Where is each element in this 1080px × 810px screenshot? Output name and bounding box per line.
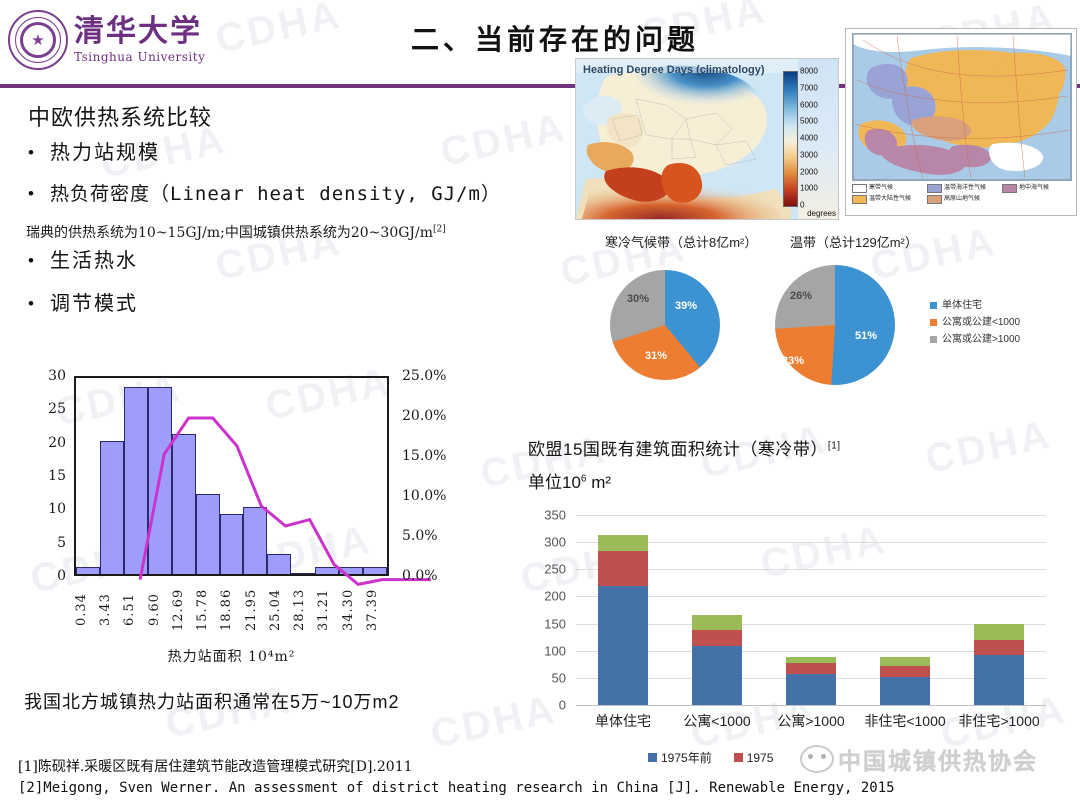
sbc-legend-item: 1975 — [734, 751, 774, 765]
legend-label: 温带大陆性气候 — [869, 194, 911, 205]
histogram-x-tick: 12.69 — [171, 582, 195, 638]
pie-title-temperate: 温带（总计129亿m²） — [790, 232, 918, 251]
legend-swatch — [648, 753, 657, 762]
sbc-stack — [880, 657, 931, 705]
bullet-label: 热负荷密度（Linear heat density, GJ/m） — [50, 183, 501, 206]
histogram-x-tick: 9.60 — [147, 582, 171, 638]
sbc-segment — [880, 666, 931, 676]
histogram-x-tick: 37.39 — [365, 582, 389, 638]
bullet-dot-icon: • — [28, 142, 50, 164]
map-legend-row: 寒带气候温带海洋性气候地中海气候 — [852, 183, 1072, 194]
page-title: 二、当前存在的问题 — [390, 18, 720, 58]
pie-slice-label: 39% — [675, 300, 697, 312]
pie-chart-temperate — [775, 265, 895, 385]
colorbar-tick: 5000 — [800, 117, 818, 126]
colorbar-tick: 2000 — [800, 167, 818, 176]
sbc-y-tick: 200 — [544, 589, 566, 604]
sbc-y-tick: 50 — [552, 670, 566, 685]
histogram-x-axis-title-text: 热力站面积 10⁴m² — [168, 649, 296, 665]
histogram-bar — [100, 441, 124, 574]
histogram-y-tick: 15 — [48, 468, 66, 484]
histogram-x-tick: 28.13 — [292, 582, 316, 638]
bullet-dot-icon: • — [28, 293, 50, 315]
map-legend: 寒带气候温带海洋性气候地中海气候温带大陆性气候高原山地气候 — [852, 183, 1072, 205]
sbc-segment — [598, 586, 649, 705]
histogram-y-tick: 10 — [48, 501, 66, 517]
right-caption-text: 欧盟15国既有建筑面积统计（寒冷带） — [528, 440, 828, 459]
university-name-cn: 清华大学 — [74, 17, 205, 47]
histogram-x-tick: 15.78 — [195, 582, 219, 638]
sbc-segment — [598, 535, 649, 552]
histogram-x-tick: 34.30 — [341, 582, 365, 638]
colorbar-tick: 8000 — [800, 67, 818, 76]
map-legend-item: 地中海气候 — [1002, 183, 1070, 194]
histogram-x-tick: 0.34 — [74, 582, 98, 638]
map-legend-item: 温带大陆性气候 — [852, 194, 920, 205]
sbc-segment — [974, 655, 1025, 705]
density-note-ref: [2] — [433, 224, 446, 234]
pie-slice-label: 23% — [782, 355, 804, 367]
sbc-column — [952, 515, 1046, 705]
legend-label: 1975 — [747, 751, 774, 765]
list-item: • 热负荷密度（Linear heat density, GJ/m） — [28, 183, 528, 206]
histogram-y-tick: 30 — [48, 368, 66, 384]
sbc-segment — [598, 551, 649, 585]
sbc-column — [764, 515, 858, 705]
map-legend-item: 寒带气候 — [852, 183, 920, 194]
histogram-x-tick: 31.21 — [316, 582, 340, 638]
histogram-x-labels: 0.343.436.519.6012.6915.7818.8621.9525.0… — [74, 582, 389, 638]
sbc-x-label: 非住宅>1000 — [952, 711, 1046, 731]
histogram-x-tick: 6.51 — [122, 582, 146, 638]
right-caption-line1: 欧盟15国既有建筑面积统计（寒冷带）[1] — [528, 435, 841, 460]
pie-legend-item: 公寓或公建>1000 — [930, 331, 1020, 348]
pie-legend-item: 单体住宅 — [930, 297, 1020, 314]
sbc-x-labels: 单体住宅公寓<1000公寓>1000非住宅<1000非住宅>1000 — [576, 711, 1046, 731]
sbc-stack — [974, 624, 1025, 705]
page-watermark: CDHA — [922, 412, 1056, 483]
sbc-segment — [692, 615, 743, 630]
legend-swatch — [927, 184, 942, 193]
legend-label: 温带海洋性气候 — [944, 183, 986, 194]
legend-label: 公寓或公建<1000 — [942, 314, 1020, 331]
histogram-y2-tick: 25.0% — [402, 368, 446, 384]
sbc-segment — [692, 630, 743, 646]
histogram-y2-tick: 5.0% — [402, 528, 438, 544]
europe-climate-zones-map: 寒带气候温带海洋性气候地中海气候温带大陆性气候高原山地气候 — [845, 28, 1077, 216]
list-item: • 调节模式 — [28, 293, 528, 316]
legend-swatch — [930, 302, 937, 309]
legend-swatch — [734, 753, 743, 762]
histogram-x-axis-title: 热力站面积 10⁴m² — [74, 646, 389, 666]
density-note: 瑞典的供热系统为10~15GJ/m;中国城镇供热系统为20~30GJ/m[2] — [26, 222, 446, 242]
stacked-bar-chart: 050100150200250300350 单体住宅公寓<1000公寓>1000… — [528, 505, 1073, 750]
map-legend-item: 高原山地气候 — [927, 194, 995, 205]
association-watermark: 中国城镇供热协会 — [800, 742, 1038, 776]
left-caption: 我国北方城镇热力站面积通常在5万~10万m2 — [24, 688, 400, 714]
sbc-bars — [576, 515, 1046, 705]
colorbar-tick: 3000 — [800, 150, 818, 159]
map-legend-item: 温带海洋性气候 — [927, 183, 995, 194]
sbc-legend: 1975年前1975 — [648, 749, 773, 766]
histogram-x-tick: 25.04 — [268, 582, 292, 638]
sbc-legend-item: 1975年前 — [648, 749, 712, 766]
tsinghua-seal-icon: ★ — [8, 10, 68, 70]
sbc-column — [670, 515, 764, 705]
bullet-label: 生活热水 — [50, 250, 138, 273]
sbc-y-tick: 0 — [559, 698, 566, 713]
colorbar-tick: 0 — [800, 201, 804, 210]
legend-swatch — [930, 319, 937, 326]
pie-slice-label: 51% — [855, 330, 877, 342]
sbc-segment — [786, 663, 837, 673]
sbc-x-label: 单体住宅 — [576, 711, 670, 731]
histogram-x-tick: 3.43 — [98, 582, 122, 638]
legend-label: 高原山地气候 — [944, 194, 980, 205]
map-legend-row: 温带大陆性气候高原山地气候 — [852, 194, 1072, 205]
reference-item: [2]Meigong, Sven Werner. An assessment o… — [18, 778, 895, 799]
association-name: 中国城镇供热协会 — [838, 742, 1038, 776]
histogram-y2-tick: 0.0% — [402, 568, 438, 584]
pie-chart-cold — [610, 270, 720, 380]
list-item: • 生活热水 — [28, 250, 528, 273]
sbc-y-tick: 150 — [544, 616, 566, 631]
bullet-label: 热力站规模 — [50, 142, 160, 165]
pie-title-cold: 寒冷气候带（总计8亿m²） — [605, 232, 757, 251]
histogram-y-axis-right: 0.0%5.0%10.0%15.0%20.0%25.0% — [396, 368, 466, 576]
sbc-segment — [786, 674, 837, 705]
colorbar-tick: 7000 — [800, 83, 818, 92]
pie-slice-label: 26% — [790, 290, 812, 302]
histogram-y-tick: 0 — [57, 568, 66, 584]
legend-label: 地中海气候 — [1019, 183, 1049, 194]
europe-hdd-raster — [576, 59, 798, 219]
histogram-x-tick: 18.86 — [219, 582, 243, 638]
histogram-y-axis-left: 051015202530 — [22, 368, 68, 576]
section-lead: 中欧供热系统比较 — [28, 100, 212, 132]
density-note-text: 瑞典的供热系统为10~15GJ/m;中国城镇供热系统为20~30GJ/m — [26, 225, 433, 241]
colorbar-tick: 6000 — [800, 100, 818, 109]
pie-slice-label: 30% — [627, 293, 649, 305]
colorbar-tick: 1000 — [800, 184, 818, 193]
sbc-y-axis: 050100150200250300350 — [528, 515, 570, 705]
legend-swatch — [852, 184, 867, 193]
legend-label: 单体住宅 — [942, 297, 982, 314]
bullet-dot-icon: • — [28, 250, 50, 272]
right-caption-ref: [1] — [828, 440, 841, 451]
histogram-y2-tick: 15.0% — [402, 448, 446, 464]
colorbar-unit: degrees — [807, 209, 836, 218]
page-watermark: CDHA — [867, 219, 1001, 290]
legend-swatch — [1002, 184, 1017, 193]
unit-prefix: 单位10 — [528, 473, 581, 492]
legend-swatch — [927, 195, 942, 204]
histogram-plot-area — [74, 376, 389, 576]
legend-label: 寒带气候 — [869, 183, 893, 194]
unit-suffix: m² — [586, 473, 611, 492]
sbc-stack — [598, 535, 649, 705]
colorbar-tick: 4000 — [800, 134, 818, 143]
sbc-segment — [974, 640, 1025, 655]
sbc-segment — [880, 657, 931, 667]
association-logo-icon — [800, 745, 834, 773]
tsinghua-logo: ★ 清华大学 Tsinghua University — [8, 10, 205, 70]
europe-climate-raster — [852, 33, 1072, 181]
histogram-x-tick: 21.95 — [244, 582, 268, 638]
histogram-y-tick: 20 — [48, 435, 66, 451]
sbc-segment — [974, 624, 1025, 640]
university-name-en: Tsinghua University — [74, 50, 205, 64]
sbc-y-tick: 250 — [544, 562, 566, 577]
histogram-y-tick: 5 — [57, 535, 66, 551]
sbc-x-label: 公寓>1000 — [764, 711, 858, 731]
right-caption-line2: 单位106 m² — [528, 468, 611, 493]
histogram-y-tick: 25 — [48, 401, 66, 417]
legend-swatch — [930, 336, 937, 343]
sbc-x-label: 公寓<1000 — [670, 711, 764, 731]
histogram-chart: 051015202530 0.0%5.0%10.0%15.0%20.0%25.0… — [22, 368, 462, 668]
colorbar — [783, 71, 798, 207]
sbc-x-label: 非住宅<1000 — [858, 711, 952, 731]
legend-swatch — [852, 195, 867, 204]
legend-label: 公寓或公建>1000 — [942, 331, 1020, 348]
pie-legend: 单体住宅公寓或公建<1000公寓或公建>1000 — [930, 297, 1020, 348]
bullet-label: 调节模式 — [50, 293, 138, 316]
sbc-segment — [692, 646, 743, 705]
map-title: Heating Degree Days (climatology) — [583, 64, 765, 76]
list-item: • 热力站规模 — [28, 142, 528, 165]
histogram-y2-tick: 10.0% — [402, 488, 446, 504]
star-icon: ★ — [31, 33, 44, 48]
sbc-column — [576, 515, 670, 705]
histogram-bar — [76, 567, 100, 574]
sbc-y-tick: 100 — [544, 643, 566, 658]
pie-legend-item: 公寓或公建<1000 — [930, 314, 1020, 331]
sbc-y-tick: 350 — [544, 508, 566, 523]
legend-label: 1975年前 — [661, 749, 712, 766]
colorbar-ticks: 800070006000500040003000200010000 — [800, 63, 834, 213]
sbc-column — [858, 515, 952, 705]
sbc-segment — [880, 677, 931, 705]
heating-degree-days-map: Heating Degree Days (climatology) 800070… — [575, 58, 839, 220]
slide-root: CDHA CDHA CDHA CDHA CDHA CDHA CDHA CDHA … — [0, 0, 1080, 810]
gridline — [576, 705, 1046, 706]
sbc-stack — [692, 615, 743, 705]
pie-slice-label: 31% — [645, 350, 667, 362]
sbc-y-tick: 300 — [544, 535, 566, 550]
histogram-y2-tick: 20.0% — [402, 408, 446, 424]
bullet-dot-icon: • — [28, 183, 50, 205]
sbc-stack — [786, 657, 837, 705]
